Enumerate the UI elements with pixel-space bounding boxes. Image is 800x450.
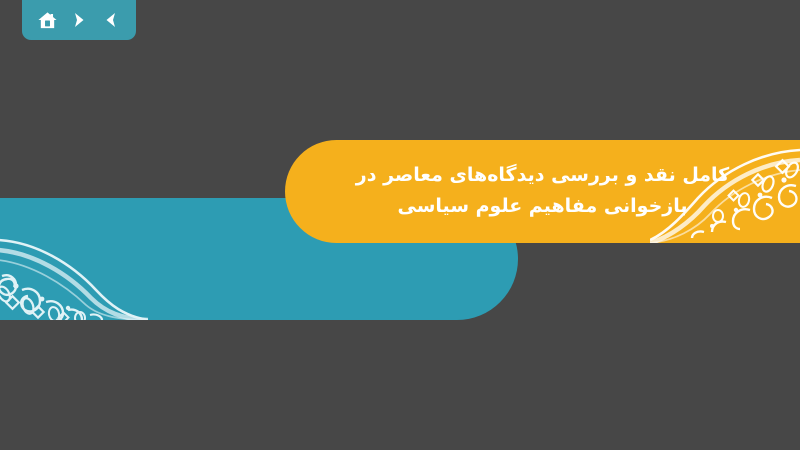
back-triangle-icon [102,11,120,29]
slide-canvas: کامل نقد و بررسی دیدگاه‌های معاصر در باز… [0,0,800,450]
navigation-bar [22,0,136,40]
forward-button[interactable] [66,7,92,33]
orange-arabesque-ornament-icon [650,140,800,243]
back-button[interactable] [98,7,124,33]
orange-banner-shape [285,140,800,243]
forward-triangle-icon [70,11,88,29]
home-icon [37,10,58,31]
teal-arabesque-ornament-icon [0,198,148,320]
home-button[interactable] [34,7,60,33]
